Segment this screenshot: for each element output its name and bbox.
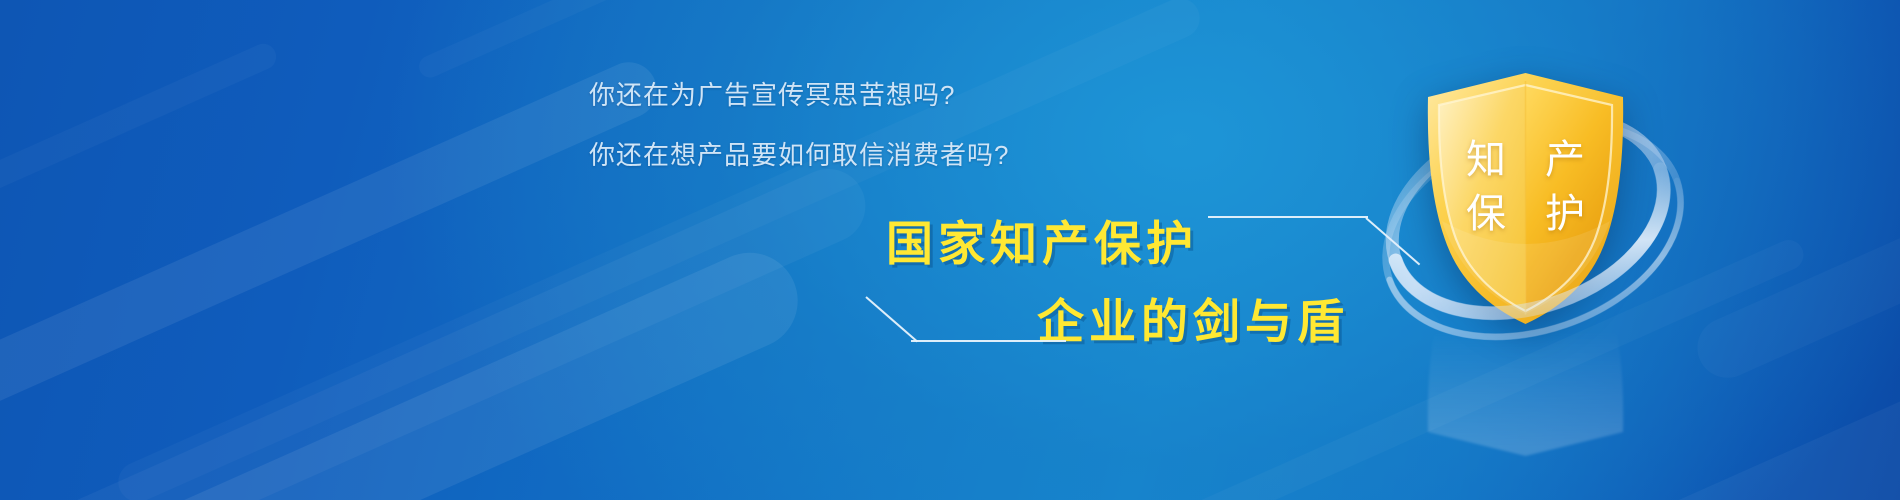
- headline-rule-top-horizontal: [1208, 216, 1368, 218]
- shield-icon: [1418, 71, 1633, 326]
- diagonal-stripe: [1688, 80, 1900, 387]
- diagonal-stripe: [25, 157, 877, 500]
- diagonal-stripe: [0, 237, 813, 500]
- diagonal-stripe: [416, 0, 991, 81]
- promo-banner: 你还在为广告宣传冥思苦想吗? 你还在想产品要如何取信消费者吗? 国家知产保护 企…: [0, 0, 1900, 500]
- headline-rule-bottom-horizontal: [911, 340, 1066, 342]
- headline-rule-bottom-diagonal: [865, 296, 918, 342]
- subtitle-line-2: 你还在想产品要如何取信消费者吗?: [589, 135, 1009, 172]
- shield-body: 知 产 保 护: [1418, 71, 1633, 326]
- shield-reflection: [1418, 323, 1633, 458]
- subtitle-line-1: 你还在为广告宣传冥思苦想吗?: [589, 75, 955, 112]
- headline-line-2: 企业的剑与盾: [1037, 283, 1349, 352]
- diagonal-stripe: [0, 53, 666, 413]
- headline-line-1: 国家知产保护: [886, 205, 1198, 274]
- shield-emblem: 知 产 保 护: [1380, 55, 1710, 455]
- diagonal-stripe: [0, 40, 280, 275]
